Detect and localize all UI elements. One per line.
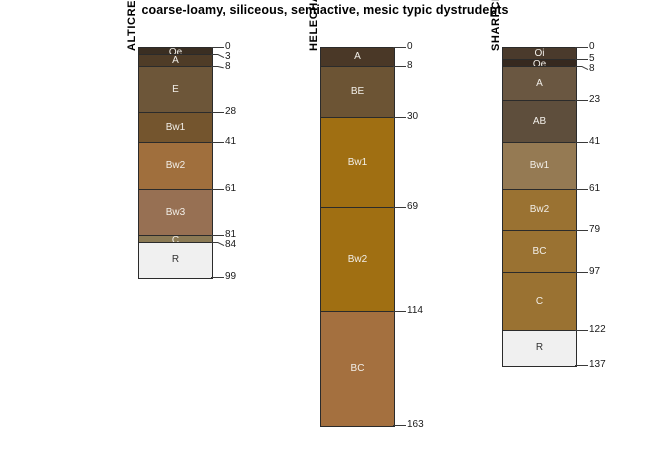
depth-leader-line: [400, 66, 406, 67]
profile-name-label: SHARPCREST: [490, 0, 502, 51]
depth-tick: [575, 230, 582, 231]
depth-tick: [575, 142, 582, 143]
depth-leader-line: [400, 311, 406, 312]
depth-leader-line: [582, 365, 588, 366]
depth-value-label: 122: [589, 325, 606, 335]
depth-tick: [211, 189, 218, 190]
depth-tick: [211, 277, 218, 278]
depth-leader-line: [218, 47, 224, 48]
horizon-label: Oe: [139, 48, 212, 55]
horizon-label: C: [139, 236, 212, 243]
depth-value-label: 8: [225, 62, 231, 72]
depth-leader-line: [400, 207, 406, 208]
horizon-bw2: Bw2: [321, 208, 394, 312]
horizon-bc: BC: [503, 231, 576, 273]
horizon-label: Bw2: [321, 255, 394, 265]
horizon-bw2: Bw2: [139, 143, 212, 189]
depth-tick: [393, 425, 400, 426]
depth-tick: [211, 112, 218, 113]
depth-leader-line: [218, 242, 224, 246]
horizon-label: Oe: [503, 60, 576, 67]
depth-leader-line: [400, 425, 406, 426]
horizon-r: R: [503, 331, 576, 366]
horizon-label: Oi: [503, 49, 576, 59]
depth-leader-line: [218, 66, 224, 68]
horizon-label: Bw1: [321, 158, 394, 168]
depth-value-label: 23: [589, 95, 600, 105]
horizon-c: C: [139, 236, 212, 243]
depth-leader-line: [582, 142, 588, 143]
depth-tick: [575, 59, 582, 60]
depth-value-label: 99: [225, 272, 236, 282]
horizon-label: Bw2: [503, 205, 576, 215]
horizon-bw1: Bw1: [139, 113, 212, 143]
horizon-a: A: [503, 67, 576, 102]
profile-name-label: ALTICREST: [126, 0, 138, 51]
horizon-bc: BC: [321, 312, 394, 426]
horizon-bw1: Bw1: [321, 118, 394, 208]
depth-leader-line: [582, 189, 588, 190]
depth-leader-line: [218, 189, 224, 190]
depth-value-label: 41: [225, 137, 236, 147]
horizon-label: C: [503, 297, 576, 307]
depth-tick: [575, 272, 582, 273]
horizon-label: Bw1: [503, 161, 576, 171]
horizon-label: R: [503, 343, 576, 353]
depth-value-label: 61: [225, 184, 236, 194]
depth-leader-line: [400, 47, 406, 48]
horizon-oi: Oi: [503, 48, 576, 60]
depth-tick: [393, 66, 400, 67]
depth-leader-line: [582, 66, 588, 70]
depth-value-label: 8: [589, 64, 595, 74]
depth-leader-line: [582, 59, 588, 60]
depth-tick: [393, 47, 400, 48]
horizon-bw2: Bw2: [503, 190, 576, 232]
horizon-label: A: [139, 56, 212, 66]
depth-tick: [393, 311, 400, 312]
depth-tick: [575, 47, 582, 48]
horizon-label: R: [139, 255, 212, 265]
horizon-a: A: [139, 55, 212, 67]
depth-leader-line: [218, 235, 224, 236]
depth-value-label: 163: [407, 420, 424, 430]
horizon-e: E: [139, 67, 212, 113]
depth-value-label: 0: [407, 42, 413, 52]
depth-tick: [211, 235, 218, 236]
depth-value-label: 137: [589, 360, 606, 370]
depth-leader-line: [582, 272, 588, 273]
horizon-label: Bw1: [139, 123, 212, 133]
depth-value-label: 30: [407, 112, 418, 122]
depth-tick: [575, 189, 582, 190]
depth-leader-line: [582, 47, 588, 48]
horizon-r: R: [139, 243, 212, 278]
horizon-be: BE: [321, 67, 394, 118]
horizon-stack: OeAEBw1Bw2Bw3CR: [138, 47, 213, 279]
horizon-stack: OiOeAABBw1Bw2BCCR: [502, 47, 577, 367]
horizon-label: A: [503, 79, 576, 89]
horizon-stack: ABEBw1Bw2BC: [320, 47, 395, 427]
depth-leader-line: [582, 230, 588, 231]
depth-value-label: 97: [589, 267, 600, 277]
depth-leader-line: [582, 100, 588, 101]
horizon-oe: Oe: [503, 60, 576, 67]
depth-tick: [393, 207, 400, 208]
depth-leader-line: [218, 54, 224, 58]
depth-tick: [211, 142, 218, 143]
profile-name-label: HELECHAWA: [308, 0, 320, 51]
depth-leader-line: [582, 330, 588, 331]
page-title: coarse-loamy, siliceous, semiactive, mes…: [0, 3, 650, 17]
depth-leader-line: [218, 277, 224, 278]
horizon-label: Bw3: [139, 208, 212, 218]
depth-value-label: 84: [225, 240, 236, 250]
horizon-label: A: [321, 52, 394, 62]
horizon-bw3: Bw3: [139, 190, 212, 236]
depth-leader-line: [218, 112, 224, 113]
depth-value-label: 114: [407, 306, 423, 316]
depth-value-label: 61: [589, 184, 600, 194]
horizon-bw1: Bw1: [503, 143, 576, 189]
horizon-label: E: [139, 85, 212, 95]
horizon-oe: Oe: [139, 48, 212, 55]
horizon-label: BC: [503, 247, 576, 257]
horizon-label: AB: [503, 117, 576, 127]
depth-value-label: 8: [407, 61, 413, 71]
depth-value-label: 79: [589, 225, 600, 235]
depth-value-label: 41: [589, 137, 600, 147]
depth-value-label: 28: [225, 107, 236, 117]
depth-tick: [211, 47, 218, 48]
depth-value-label: 69: [407, 202, 418, 212]
depth-value-label: 0: [589, 42, 595, 52]
horizon-label: Bw2: [139, 161, 212, 171]
depth-leader-line: [218, 142, 224, 143]
depth-tick: [575, 100, 582, 101]
horizon-label: BE: [321, 87, 394, 97]
depth-tick: [575, 330, 582, 331]
horizon-c: C: [503, 273, 576, 331]
horizon-a: A: [321, 48, 394, 67]
depth-tick: [575, 365, 582, 366]
depth-leader-line: [400, 117, 406, 118]
horizon-label: BC: [321, 364, 394, 374]
depth-tick: [393, 117, 400, 118]
horizon-ab: AB: [503, 101, 576, 143]
